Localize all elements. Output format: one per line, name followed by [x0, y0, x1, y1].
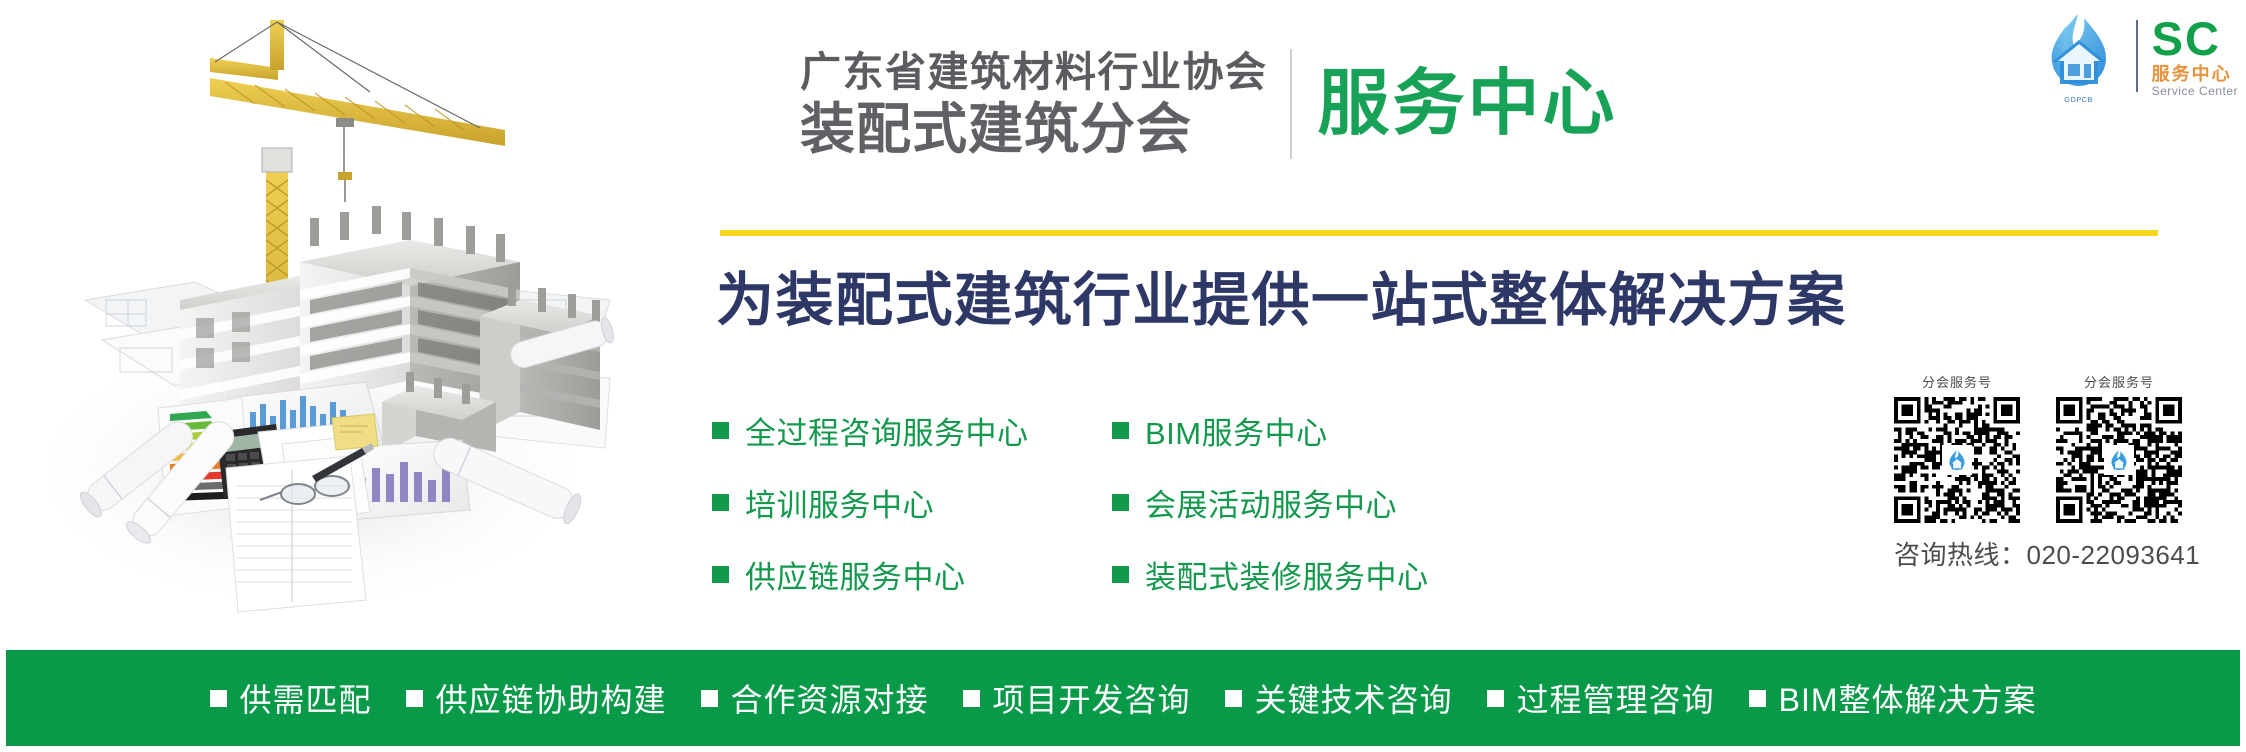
logo-chinese-name: 服务中心 [2152, 65, 2232, 83]
bullet-square-icon [210, 690, 227, 707]
blue-flame-house-icon [1942, 445, 1972, 475]
bullet-square-icon [1112, 566, 1129, 583]
bullet-square-icon [406, 690, 423, 707]
bullet-square-icon [712, 422, 729, 439]
service-item-label: 供应链服务中心 [745, 552, 966, 597]
bottom-bar-item[interactable]: 合作资源对接 [701, 675, 929, 721]
service-item-label: 培训服务中心 [745, 480, 934, 525]
bottom-bar-item[interactable]: 过程管理咨询 [1487, 675, 1715, 721]
qr-block: 分会服务号 分会服务号 [1894, 372, 2224, 572]
qr-caption: 分会服务号 [2056, 372, 2182, 391]
service-item-label: BIM服务中心 [1145, 408, 1328, 453]
bullet-square-icon [712, 494, 729, 511]
service-item[interactable]: 供应链服务中心 [712, 552, 1112, 597]
bottom-bar-items: 供需匹配 供应链协助构建 合作资源对接 项目开发咨询 关键技术咨询 过程管理咨询 [210, 675, 2037, 721]
blue-flame-house-icon: GDPCB [2036, 10, 2122, 102]
association-line1: 广东省建筑材料行业协会 [800, 52, 1268, 93]
service-item[interactable]: 全过程咨询服务中心 [712, 408, 1112, 453]
bullet-square-icon [1487, 690, 1504, 707]
service-item[interactable]: 装配式装修服务中心 [1112, 552, 1512, 597]
bullet-square-icon [963, 690, 980, 707]
content-area: GDPCB SC 服务中心 Service Center 广东省建筑材料行业协会… [630, 0, 2246, 650]
qr-card[interactable]: 分会服务号 [1894, 372, 2020, 523]
bottom-green-bar: 供需匹配 供应链协助构建 合作资源对接 项目开发咨询 关键技术咨询 过程管理咨询 [6, 650, 2240, 746]
slogan-text: 为装配式建筑行业提供一站式整体解决方案 [716, 253, 1847, 337]
bottom-bar-item[interactable]: 供应链协助构建 [406, 675, 667, 721]
bullet-square-icon [712, 566, 729, 583]
bullet-square-icon [1112, 494, 1129, 511]
bottom-bar-item-label: 供应链协助构建 [436, 675, 667, 721]
qr-caption: 分会服务号 [1894, 372, 2020, 391]
blue-flame-house-icon [2104, 445, 2134, 475]
header-title-row: 广东省建筑材料行业协会 装配式建筑分会 服务中心 [800, 40, 1618, 168]
service-center-title: 服务中心 [1318, 68, 1618, 140]
bullet-square-icon [1225, 690, 1242, 707]
bullet-square-icon [1112, 422, 1129, 439]
bullet-square-icon [1749, 690, 1766, 707]
service-item[interactable]: BIM服务中心 [1112, 408, 1512, 453]
bottom-bar-item-label: BIM整体解决方案 [1779, 675, 2037, 721]
service-list: 全过程咨询服务中心 BIM服务中心 培训服务中心 会展活动服务中心 供应链服务中… [712, 408, 1822, 597]
logo-english-name: Service Center [2152, 85, 2238, 97]
banner-root: GDPCB SC 服务中心 Service Center 广东省建筑材料行业协会… [0, 0, 2246, 752]
service-item-label: 会展活动服务中心 [1145, 480, 1397, 525]
bottom-bar-item-label: 关键技术咨询 [1255, 675, 1453, 721]
title-vertical-divider [1290, 49, 1292, 159]
qr-row: 分会服务号 分会服务号 [1894, 372, 2224, 523]
sc-logo: GDPCB SC 服务中心 Service Center [2036, 10, 2238, 102]
bottom-bar-item[interactable]: BIM整体解决方案 [1749, 675, 2037, 721]
construction-scene-svg [10, 0, 630, 640]
hotline-text: 咨询热线：020-22093641 [1894, 535, 2224, 572]
yellow-divider-rule [720, 230, 2158, 236]
bottom-bar-item-label: 合作资源对接 [731, 675, 929, 721]
qr-card[interactable]: 分会服务号 [2056, 372, 2182, 523]
bottom-bar-item-label: 项目开发咨询 [993, 675, 1191, 721]
logo-abbr: SC [2152, 15, 2221, 62]
bottom-bar-item[interactable]: 项目开发咨询 [963, 675, 1191, 721]
logo-gdpcb-caption: GDPCB [2036, 95, 2122, 104]
service-item-label: 全过程咨询服务中心 [745, 408, 1029, 453]
association-name: 广东省建筑材料行业协会 装配式建筑分会 [800, 52, 1268, 157]
bottom-bar-item-label: 供需匹配 [240, 675, 372, 721]
logo-divider [2136, 20, 2138, 92]
service-item[interactable]: 培训服务中心 [712, 480, 1112, 525]
bottom-bar-item-label: 过程管理咨询 [1517, 675, 1715, 721]
bullet-square-icon [701, 690, 718, 707]
service-item-label: 装配式装修服务中心 [1145, 552, 1429, 597]
logo-text-group: SC 服务中心 Service Center [2152, 15, 2238, 97]
bottom-bar-item[interactable]: 关键技术咨询 [1225, 675, 1453, 721]
qr-code-image[interactable] [2056, 397, 2182, 523]
association-line2: 装配式建筑分会 [800, 102, 1192, 157]
bottom-bar-item[interactable]: 供需匹配 [210, 675, 372, 721]
hero-illustration [10, 0, 630, 640]
service-item[interactable]: 会展活动服务中心 [1112, 480, 1512, 525]
qr-code-image[interactable] [1894, 397, 2020, 523]
